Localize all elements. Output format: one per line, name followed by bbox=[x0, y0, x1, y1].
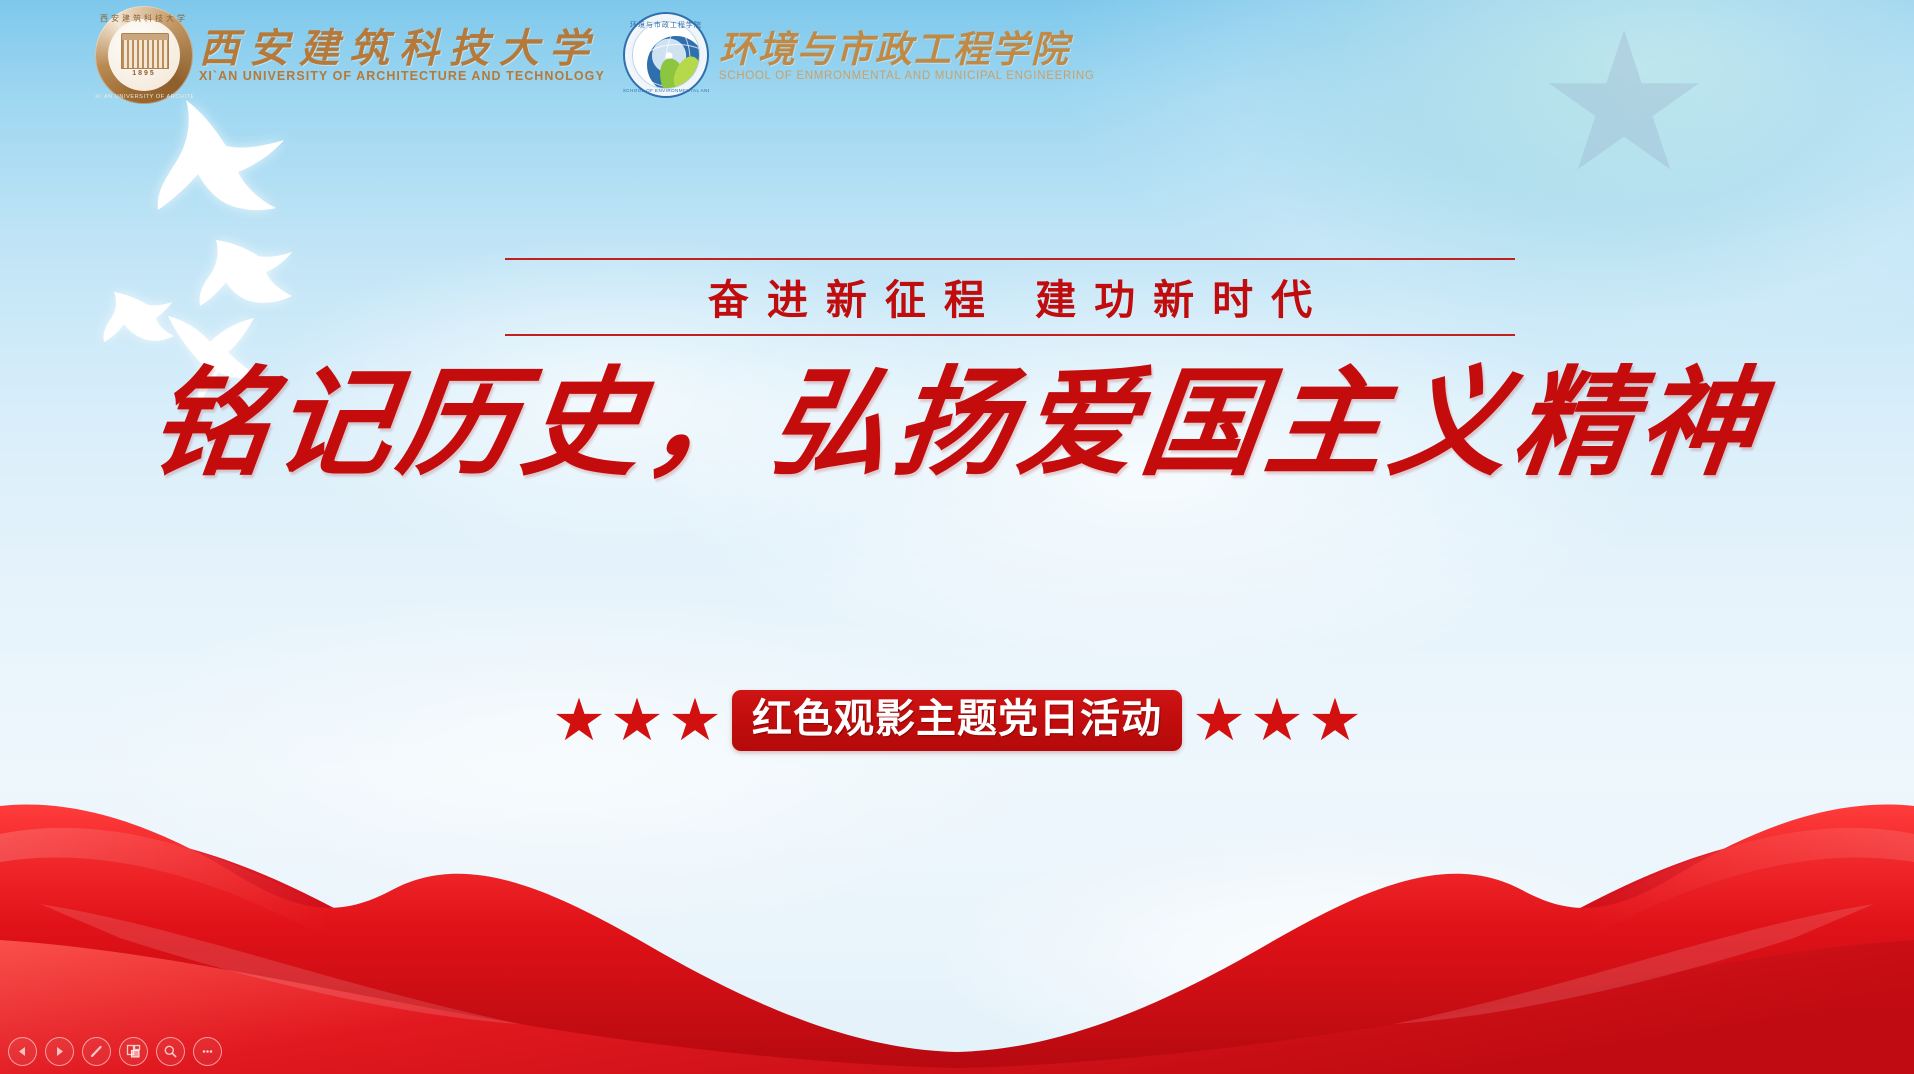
pen-button[interactable] bbox=[82, 1037, 111, 1066]
school-seal-arc-en: SCHOOL OF ENVIRONMENTAL AND MUNICIPAL EN… bbox=[623, 88, 709, 93]
university-name-block: 西安建筑科技大学 XI`AN UNIVERSITY OF ARCHITECTUR… bbox=[199, 27, 605, 83]
university-seal-arc-cn: 西安建筑科技大学 bbox=[95, 13, 193, 24]
red-silk-ribbon-decoration bbox=[0, 694, 1914, 1074]
star-icon bbox=[1254, 698, 1300, 744]
ellipsis-icon bbox=[200, 1044, 215, 1059]
school-name-en: SCHOOL OF ENMRONMENTAL AND MUNICIPAL ENG… bbox=[719, 70, 1095, 82]
star-icon bbox=[1196, 698, 1242, 744]
star-icon bbox=[1312, 698, 1358, 744]
star-icon bbox=[556, 698, 602, 744]
triangle-left-icon bbox=[16, 1045, 29, 1058]
main-title: 铭记历史，弘扬爱国主义精神 bbox=[0, 358, 1914, 488]
school-seal-icon: 环境与市政工程学院 SCHOOL OF ENVIRONMENTAL AND MU… bbox=[623, 12, 709, 98]
more-button[interactable] bbox=[193, 1037, 222, 1066]
poster-canvas: 西安建筑科技大学 1895 XI`AN UNIVERSITY OF ARCHIT… bbox=[0, 0, 1914, 1074]
university-seal-icon: 西安建筑科技大学 1895 XI`AN UNIVERSITY OF ARCHIT… bbox=[95, 6, 193, 104]
university-name-en: XI`AN UNIVERSITY OF ARCHITECTURE AND TEC… bbox=[199, 69, 605, 83]
slogan-band: 奋进新征程 建功新时代 bbox=[505, 258, 1515, 336]
school-name-cn: 环境与市政工程学院 bbox=[719, 29, 1095, 69]
star-icon bbox=[614, 698, 660, 744]
star-icon bbox=[672, 698, 718, 744]
next-button[interactable] bbox=[45, 1037, 74, 1066]
stars-left bbox=[556, 698, 718, 744]
dove-icon-large bbox=[128, 96, 318, 256]
layout-button[interactable] bbox=[119, 1037, 148, 1066]
stars-right bbox=[1196, 698, 1358, 744]
event-banner-plate: 红色观影主题党日活动 bbox=[732, 690, 1182, 751]
pen-icon bbox=[89, 1044, 104, 1059]
event-banner-row: 红色观影主题党日活动 bbox=[0, 690, 1914, 751]
layout-grid-icon bbox=[126, 1044, 141, 1059]
university-name-cn: 西安建筑科技大学 bbox=[199, 27, 605, 71]
university-seal-year: 1895 bbox=[95, 70, 193, 77]
zoom-button[interactable] bbox=[156, 1037, 185, 1066]
school-name-block: 环境与市政工程学院 SCHOOL OF ENMRONMENTAL AND MUN… bbox=[719, 29, 1095, 82]
triangle-right-icon bbox=[53, 1045, 66, 1058]
previous-button[interactable] bbox=[8, 1037, 37, 1066]
school-seal-arc-cn: 环境与市政工程学院 bbox=[623, 20, 709, 30]
event-banner-text: 红色观影主题党日活动 bbox=[752, 697, 1162, 741]
slogan-text: 奋进新征程 建功新时代 bbox=[505, 266, 1515, 326]
magnifier-icon bbox=[163, 1044, 178, 1059]
header-logos: 西安建筑科技大学 1895 XI`AN UNIVERSITY OF ARCHIT… bbox=[95, 6, 1095, 104]
bottom-toolbar[interactable] bbox=[8, 1037, 222, 1066]
